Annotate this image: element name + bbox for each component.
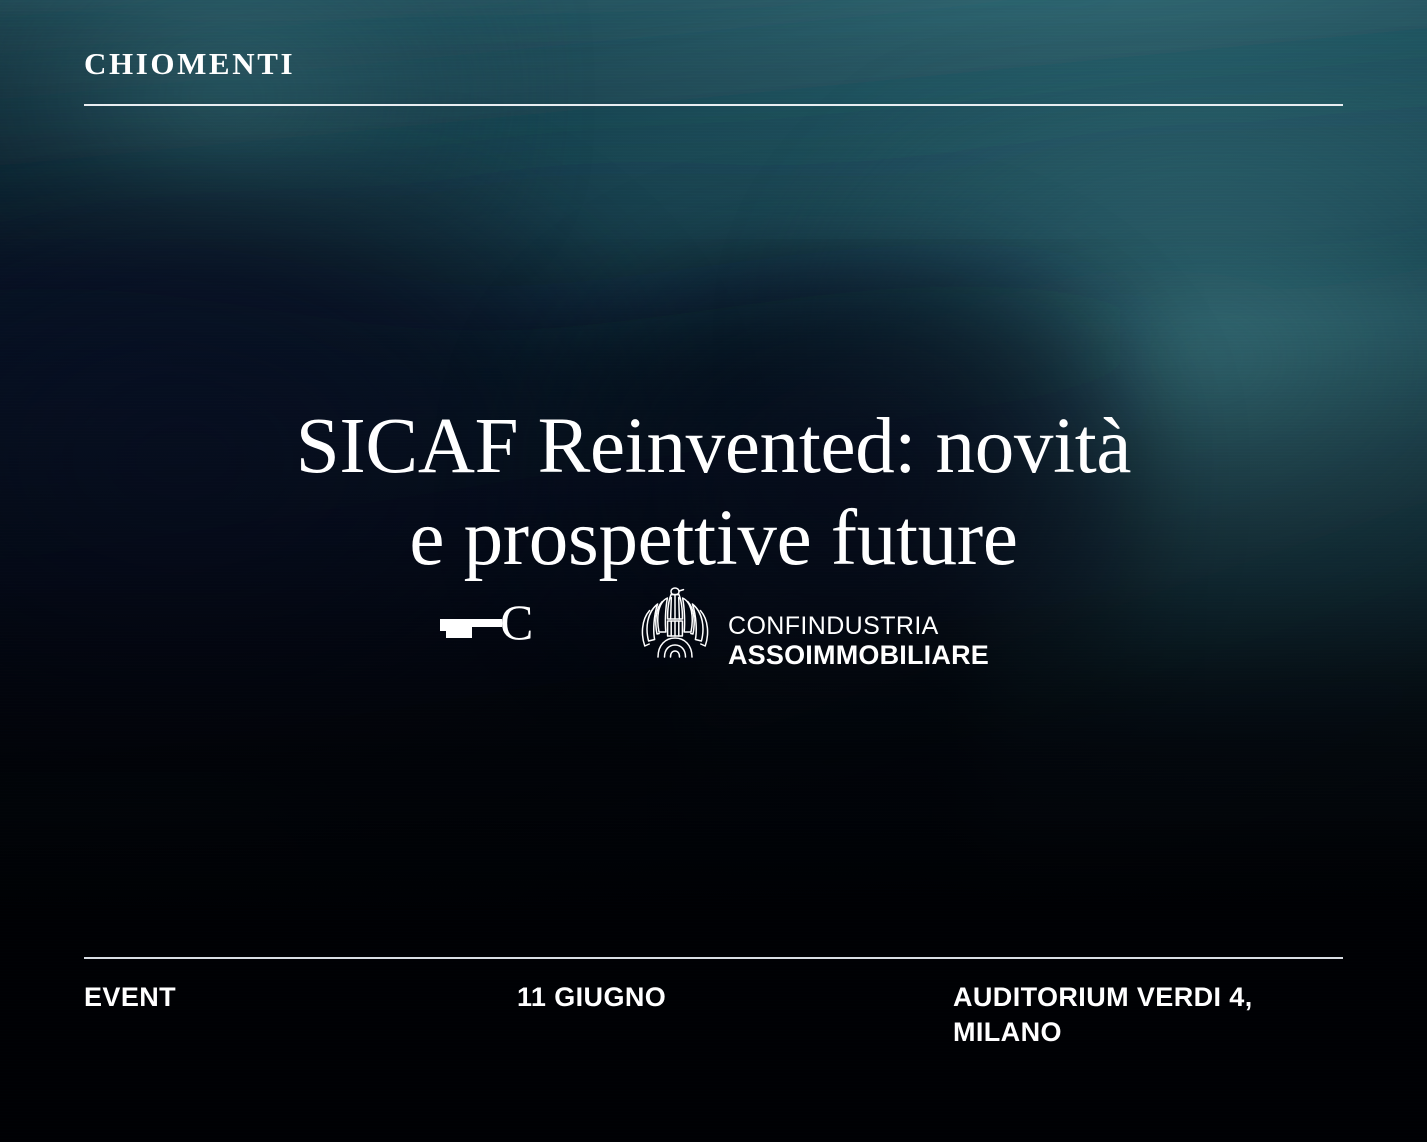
page-title-line-1: SICAF Reinvented: novità [120, 401, 1307, 493]
confindustria-wordmark-line-2: ASSOIMMOBILIARE [728, 642, 989, 669]
header-divider-rule [84, 104, 1343, 106]
chiomenti-key-icon: C [438, 598, 544, 650]
confindustria-wordmark: CONFINDUSTRIA ASSOIMMOBILIARE [728, 578, 989, 669]
footer-event-category: EVENT [84, 980, 176, 1015]
page-title: SICAF Reinvented: novità e prospettive f… [0, 401, 1427, 586]
event-poster: CHIOMENTI SICAF Reinvented: novità e pro… [0, 0, 1427, 1142]
poster-content: CHIOMENTI SICAF Reinvented: novità e pro… [0, 0, 1427, 1142]
logo-row: C [0, 578, 1427, 669]
footer-event-venue: AUDITORIUM VERDI 4, MILANO [953, 980, 1353, 1049]
svg-text:C: C [500, 598, 533, 650]
confindustria-eagle-icon [636, 583, 714, 665]
footer-event-date: 11 GIUGNO [517, 980, 666, 1015]
confindustria-assoimmobiliare-logo: CONFINDUSTRIA ASSOIMMOBILIARE [636, 578, 989, 669]
footer-divider-rule [84, 957, 1343, 959]
page-title-line-2: e prospettive future [120, 493, 1307, 585]
brand-wordmark-chiomenti: CHIOMENTI [84, 48, 295, 79]
confindustria-wordmark-line-1: CONFINDUSTRIA [728, 614, 989, 639]
